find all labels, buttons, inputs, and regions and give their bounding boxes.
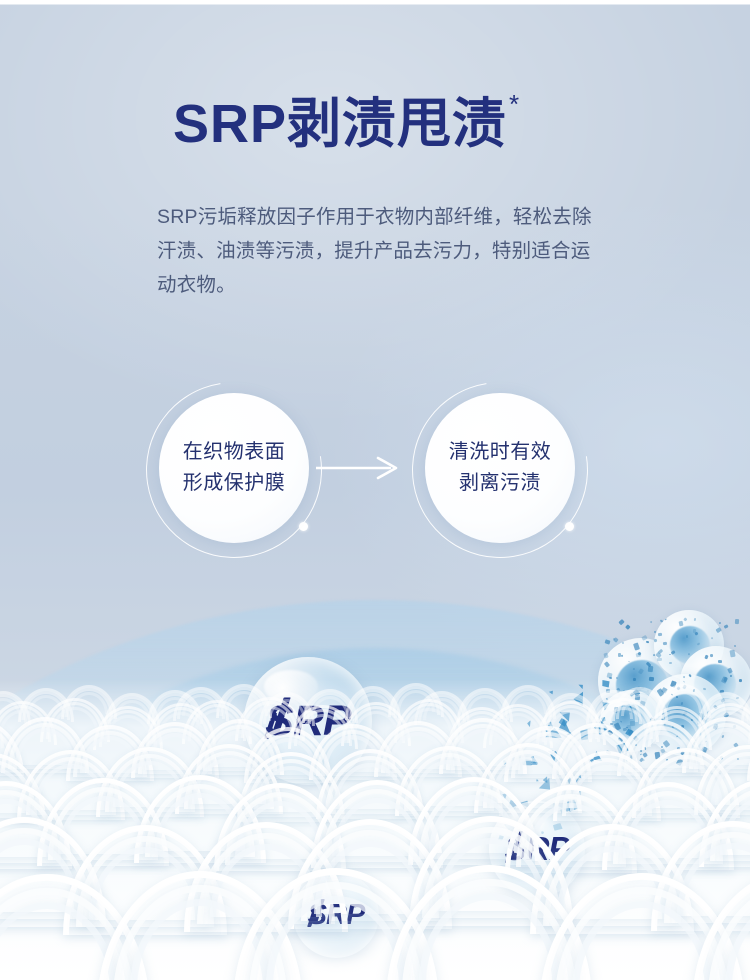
orbit-dot-icon [299, 522, 308, 531]
footnote-asterisk: * [509, 89, 520, 119]
step-1-line-1: 在织物表面 [183, 437, 286, 468]
step-2-line-2: 剥离污渍 [459, 468, 541, 499]
orbit-dot-icon [565, 522, 574, 531]
step-1-disc: 在织物表面 形成保护膜 [159, 393, 309, 543]
fabric-illustration [0, 680, 750, 980]
step-2-disc: 清洗时有效 剥离污渍 [425, 393, 575, 543]
page-title-text: SRP剥渍甩渍 [173, 94, 507, 154]
step-1-line-2: 形成保护膜 [183, 468, 286, 499]
page-title: SRP剥渍甩渍* [173, 96, 520, 152]
arrow-right-icon [316, 455, 404, 481]
product-feature-poster: SRP剥渍甩渍* SRP污垢释放因子作用于衣物内部纤维，轻松去除汗渍、油渍等污渍… [0, 0, 750, 980]
step-2-line-1: 清洗时有效 [449, 437, 552, 468]
process-step-1: 在织物表面 形成保护膜 [146, 382, 322, 558]
process-step-2: 清洗时有效 剥离污渍 [412, 382, 588, 558]
description-paragraph: SRP污垢释放因子作用于衣物内部纤维，轻松去除汗渍、油渍等污渍，提升产品去污力，… [157, 200, 609, 302]
